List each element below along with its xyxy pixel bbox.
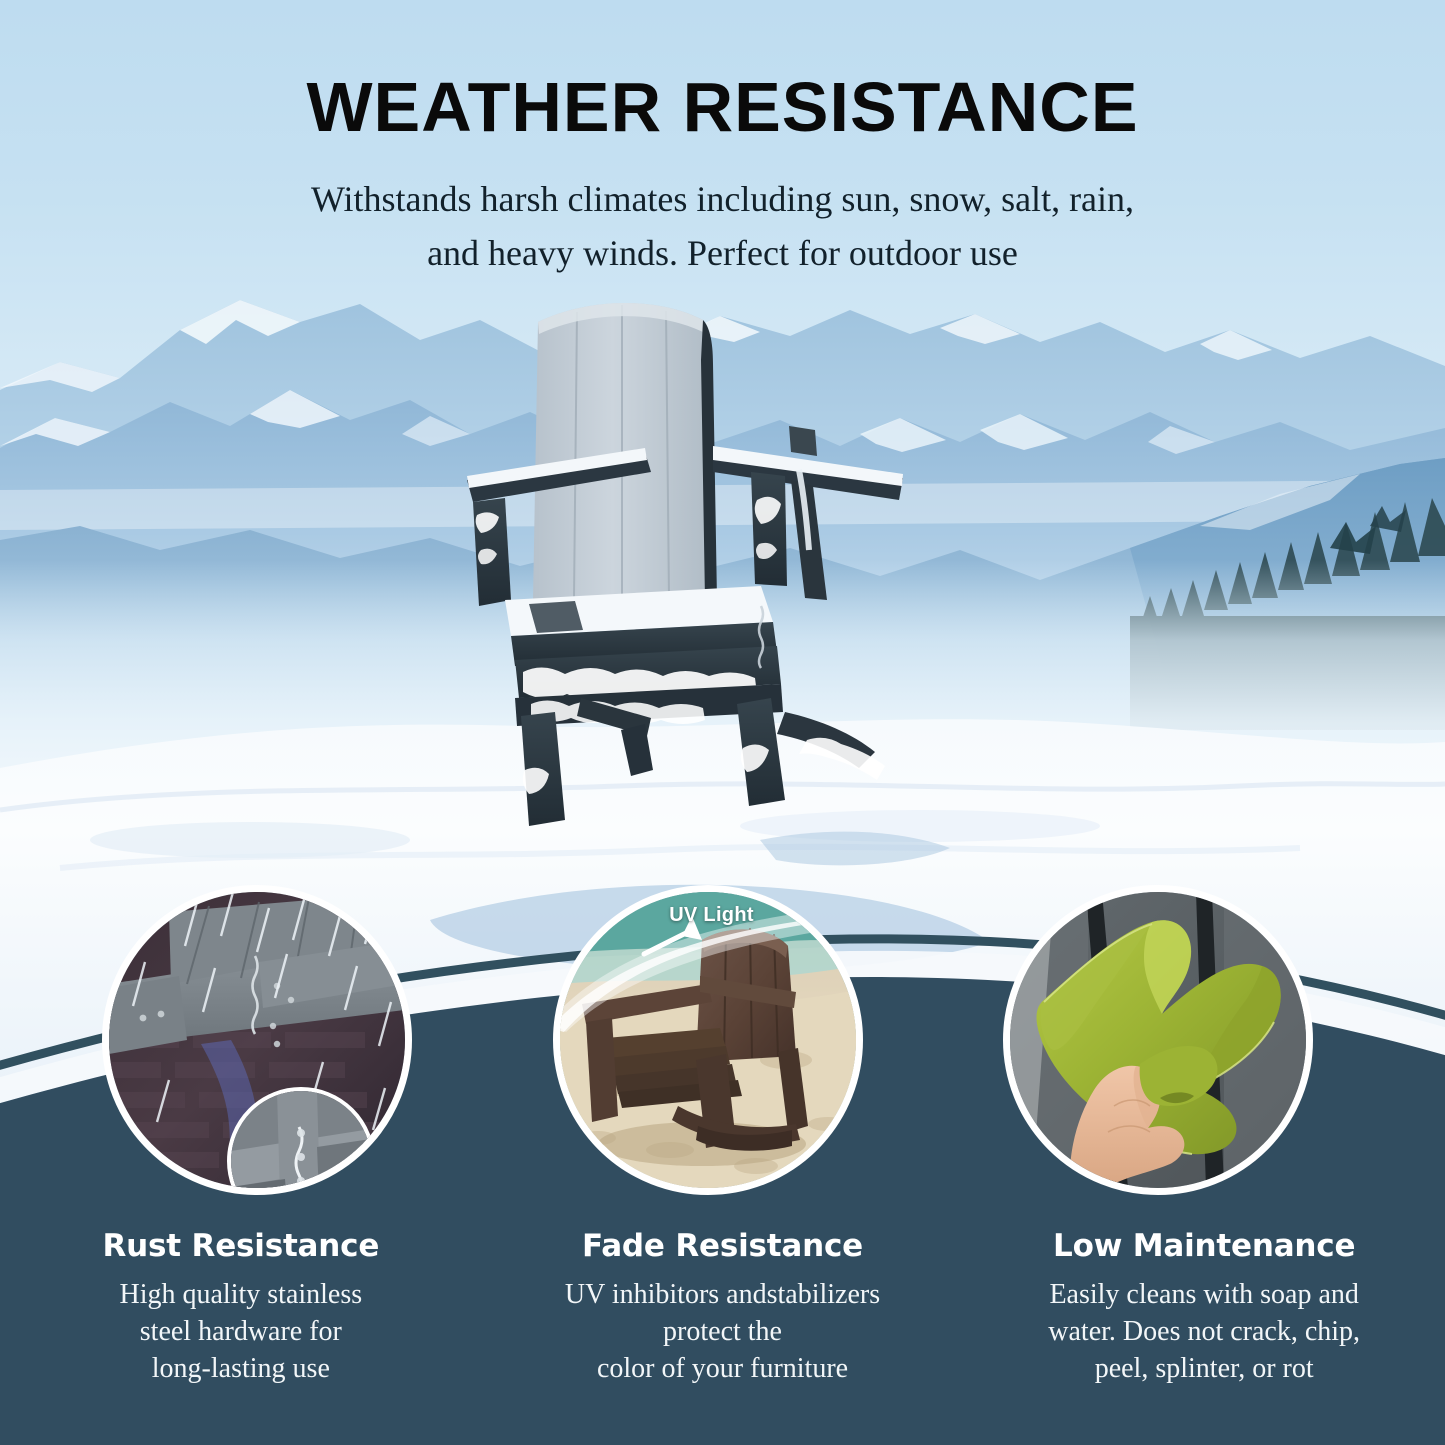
feature-description-line-3: peel, splinter, or rot: [981, 1350, 1427, 1387]
feature-description-line-2: steel hardware for: [18, 1313, 464, 1350]
feature-description-line-3: long-lasting use: [18, 1350, 464, 1387]
feature-description: UV inhibitors andstabilizers protect the…: [500, 1276, 946, 1388]
feature-title: Rust Resistance: [18, 1228, 464, 1264]
uv-light-label: UV Light: [604, 904, 819, 927]
page-title: WEATHER RESISTANCE: [0, 72, 1445, 142]
feature-title: Low Maintenance: [981, 1228, 1427, 1264]
rust-resistance-photo: [102, 885, 412, 1195]
subtitle-line-1: Withstands harsh climates including sun,…: [0, 172, 1445, 226]
feature-description-line-1: Easily cleans with soap and: [981, 1276, 1427, 1313]
feature-title: Fade Resistance: [500, 1228, 946, 1264]
feature-item-low-maintenance: Low Maintenance Easily cleans with soap …: [963, 1228, 1445, 1388]
feature-description-line-2: protect the: [500, 1313, 946, 1350]
weather-resistance-infographic: WEATHER RESISTANCE Withstands harsh clim…: [0, 0, 1445, 1445]
feature-item-fade-resistance: Fade Resistance UV inhibitors andstabili…: [482, 1228, 964, 1388]
feature-item-rust-resistance: Rust Resistance High quality stainless s…: [0, 1228, 482, 1388]
feature-description-line-2: water. Does not crack, chip,: [981, 1313, 1427, 1350]
low-maintenance-photo: [1003, 885, 1313, 1195]
feature-list: Rust Resistance High quality stainless s…: [0, 1228, 1445, 1388]
subtitle-line-2: and heavy winds. Perfect for outdoor use: [0, 226, 1445, 280]
feature-description: Easily cleans with soap and water. Does …: [981, 1276, 1427, 1388]
feature-description-line-3: color of your furniture: [500, 1350, 946, 1387]
feature-description: High quality stainless steel hardware fo…: [18, 1276, 464, 1388]
feature-description-line-1: High quality stainless: [18, 1276, 464, 1313]
fade-resistance-photo: UV Light: [553, 885, 863, 1195]
feature-description-line-1: UV inhibitors andstabilizers: [500, 1276, 946, 1313]
hero-snow-covered-chair: [455, 300, 945, 830]
page-subtitle: Withstands harsh climates including sun,…: [0, 172, 1445, 280]
